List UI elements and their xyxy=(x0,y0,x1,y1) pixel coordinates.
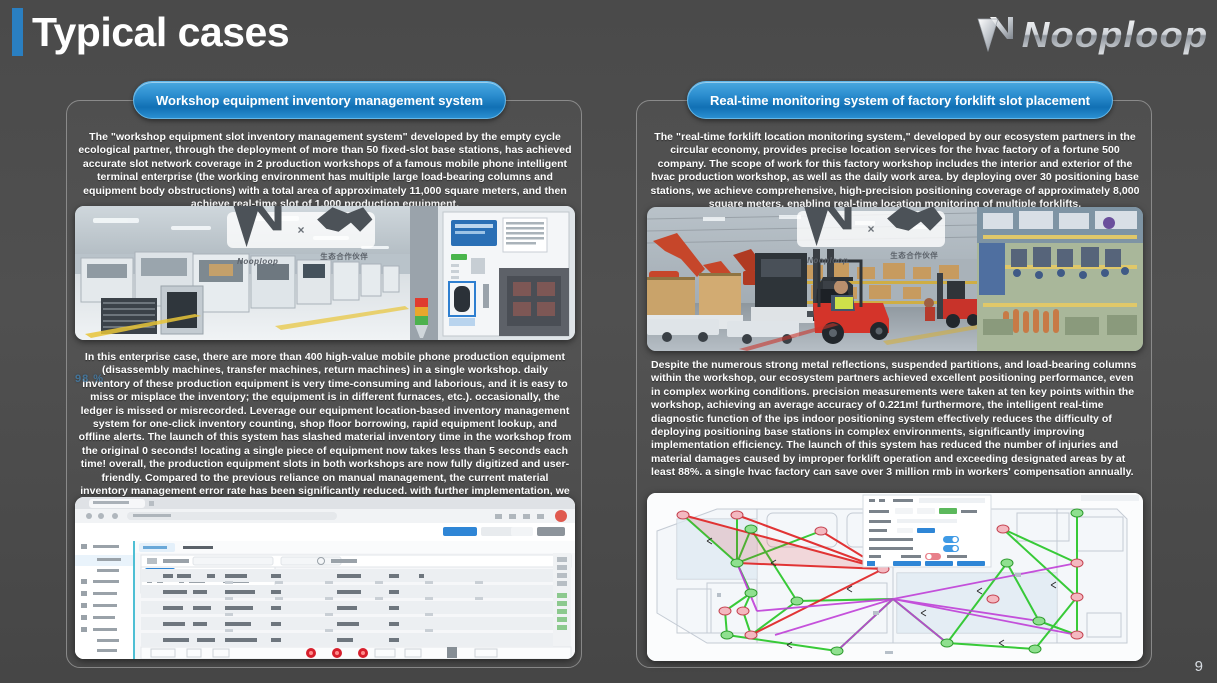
brand-wordmark: Nooploop xyxy=(1022,14,1209,56)
warehouse-forklift-photo: Nooploop × 生态合作伙伴 xyxy=(647,207,1143,351)
page-header: Typical cases Nooploop xyxy=(0,0,1217,70)
overlay-partner-left: 生态合作伙伴 xyxy=(320,251,368,262)
overlay-partner-right: 生态合作伙伴 xyxy=(890,250,938,261)
overlay-times-symbol-left: × xyxy=(297,223,304,237)
intro-paragraph-workshop: The "workshop equipment slot inventory m… xyxy=(77,131,573,211)
handshake-icon xyxy=(884,207,945,249)
intro-paragraph-forklift: The "real-time forklift location monitor… xyxy=(647,131,1143,211)
nooploop-n-mark-icon xyxy=(974,13,1018,57)
overlay-brand-right: Nooploop xyxy=(807,256,848,265)
page-number: 9 xyxy=(1195,658,1203,675)
brand-logo: Nooploop xyxy=(974,10,1203,60)
case-card-forklift-monitoring: Real-time monitoring system of factory f… xyxy=(636,100,1152,668)
nooploop-n-mark-icon xyxy=(227,206,288,256)
nooploop-n-mark-icon xyxy=(797,207,858,255)
page-title: Typical cases xyxy=(32,6,289,58)
overlay-times-symbol-right: × xyxy=(867,222,874,236)
inventory-management-software-screenshot xyxy=(75,497,575,659)
handshake-icon xyxy=(314,206,375,250)
partnership-overlay-banner-right: Nooploop × 生态合作伙伴 xyxy=(797,211,945,247)
case-card-workshop-equipment: Workshop equipment inventory management … xyxy=(66,100,582,668)
overlay-brand-left: Nooploop xyxy=(237,257,278,266)
detail-paragraph-forklift: Despite the numerous strong metal reflec… xyxy=(651,359,1143,480)
smt-production-line-photo: Nooploop × 生态合作伙伴 xyxy=(75,206,575,340)
title-accent-bar xyxy=(12,8,23,56)
partnership-overlay-banner-left: Nooploop × 生态合作伙伴 xyxy=(227,212,375,248)
anchor-network-topology-diagram xyxy=(647,493,1143,661)
